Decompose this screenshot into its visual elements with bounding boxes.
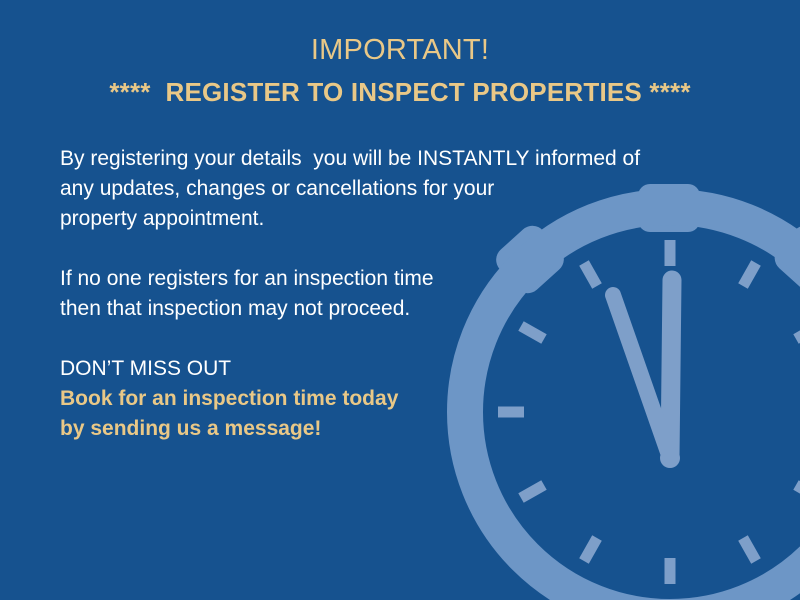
cta-line-1: Book for an inspection time today — [60, 384, 720, 414]
paragraph-2-line-2: then that inspection may not proceed. — [60, 294, 720, 324]
call-to-action-block: DON’T MISS OUT Book for an inspection ti… — [60, 354, 720, 444]
cta-line-2: by sending us a message! — [60, 414, 720, 444]
paragraph-spacer-1 — [60, 234, 720, 264]
paragraph-1-line-2: any updates, changes or cancellations fo… — [60, 174, 720, 204]
paragraph-spacer-2 — [60, 324, 720, 354]
paragraph-1-line-1: By registering your details you will be … — [60, 144, 720, 174]
body-copy: By registering your details you will be … — [60, 144, 720, 444]
paragraph-2-line-1: If no one registers for an inspection ti… — [60, 264, 720, 294]
page-title-secondary: **** REGISTER TO INSPECT PROPERTIES **** — [0, 76, 800, 110]
paragraph-registering-details: By registering your details you will be … — [60, 144, 720, 234]
page-title-primary: IMPORTANT! — [0, 32, 800, 68]
paragraph-1-line-3: property appointment. — [60, 204, 720, 234]
heading-block: IMPORTANT! **** REGISTER TO INSPECT PROP… — [0, 32, 800, 110]
slide-canvas: IMPORTANT! **** REGISTER TO INSPECT PROP… — [0, 0, 800, 600]
paragraph-no-registration: If no one registers for an inspection ti… — [60, 264, 720, 324]
cta-lead-text: DON’T MISS OUT — [60, 354, 720, 384]
